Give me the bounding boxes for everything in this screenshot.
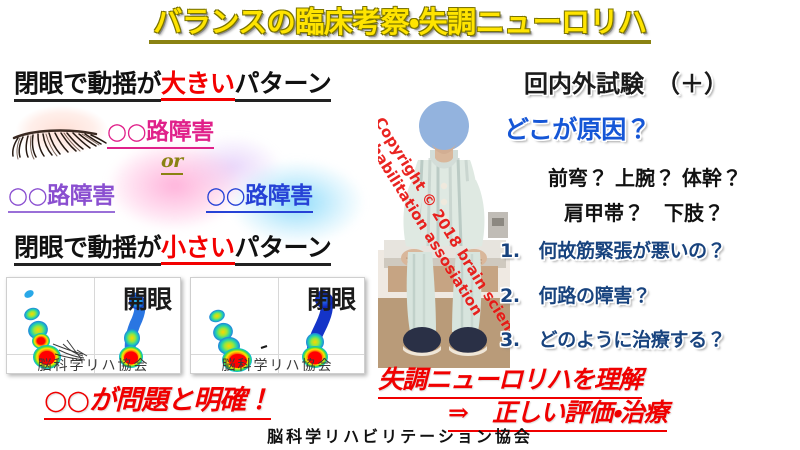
patient-photo — [378, 100, 510, 368]
pedobarography-watermark-open: 脳科学リハ協会 — [7, 355, 180, 374]
pattern-heading-large: 閉眼で動揺が大きいパターン — [14, 64, 331, 100]
question-item-3: 3. どのように治療する？ — [500, 325, 726, 352]
slide-canvas: バランスの臨床考察・失調ニューロリハ 閉眼で動揺が大きいパターン — [0, 0, 800, 450]
lane-label-right: ○○路障害 — [206, 176, 313, 213]
lane-label-left: ○○路障害 — [8, 176, 115, 213]
page-title: バランスの臨床考察・失調ニューロリハ — [149, 6, 650, 44]
pattern-small-prefix: 閉眼で動揺が — [14, 233, 161, 266]
pedobarography-label-open: 開眼 — [123, 280, 171, 316]
pattern-large-suffix: パターン — [235, 69, 332, 102]
pedobarography-watermark-closed: 脳科学リハ協会 — [191, 355, 364, 374]
pattern-small-suffix: パターン — [235, 233, 332, 266]
pedobarography-panel-eyes-closed: 閉眼 脳科学リハ協会 — [190, 277, 365, 374]
organization-footer: 脳科学リハビリテーション協会 — [0, 423, 800, 447]
pattern-heading-small: 閉眼で動揺が小さいパターン — [14, 228, 331, 264]
pedobarography-label-closed: 閉眼 — [307, 280, 355, 316]
cause-question: どこが原因？ — [504, 110, 650, 146]
pattern-large-prefix: 閉眼で動揺が — [14, 69, 161, 102]
question-item-1: 1. 何故筋緊張が悪いの？ — [500, 236, 726, 263]
candidate-sites-line-1: 前弯？ 上腕？ 体幹？ — [548, 162, 742, 191]
lane-or-connector: or — [161, 150, 183, 175]
closed-eye-icon — [4, 104, 120, 166]
pattern-large-emphasis: 大きい — [161, 69, 235, 101]
eyelash-svg — [4, 104, 120, 166]
pattern-small-emphasis: 小さい — [161, 233, 235, 265]
title-container: バランスの臨床考察・失調ニューロリハ — [0, 6, 800, 44]
patient-photo-illustration — [378, 100, 510, 368]
question-item-2: 2. 何路の障害？ — [500, 281, 651, 308]
pronation-supination-test-title: 回内外試験 （＋） — [524, 64, 728, 99]
left-conclusion: ○○が問題と明確！ — [44, 378, 271, 420]
pedobarography-panel-eyes-open: 開眼 脳科学リハ協会 — [6, 277, 181, 374]
candidate-sites-line-2: 肩甲帯？ 下肢？ — [564, 197, 724, 226]
lane-label-top: ○○路障害 — [107, 112, 214, 149]
